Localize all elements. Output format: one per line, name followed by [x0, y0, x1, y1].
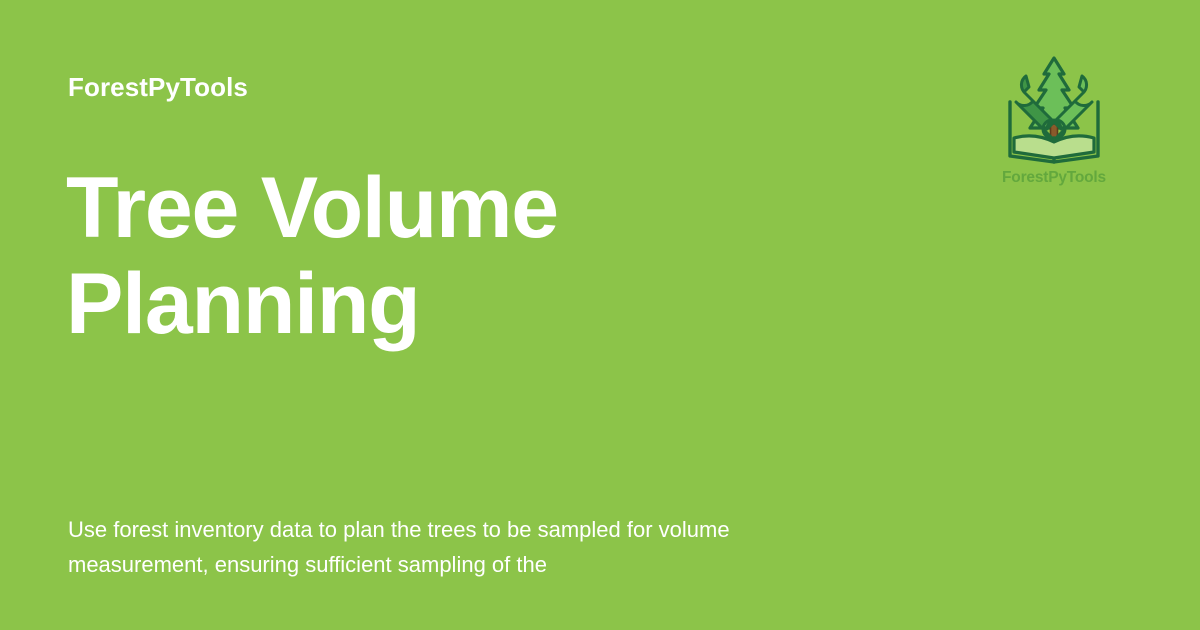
logo-block: ForestPyTools — [996, 52, 1112, 187]
brand-title: ForestPyTools — [68, 70, 248, 104]
page-title: Tree Volume Planning — [66, 160, 766, 352]
forestpytools-logo-icon — [998, 52, 1110, 168]
logo-caption: ForestPyTools — [1002, 169, 1106, 187]
social-card: ForestPyTools — [0, 0, 1200, 630]
page-description: Use forest inventory data to plan the tr… — [68, 512, 828, 582]
